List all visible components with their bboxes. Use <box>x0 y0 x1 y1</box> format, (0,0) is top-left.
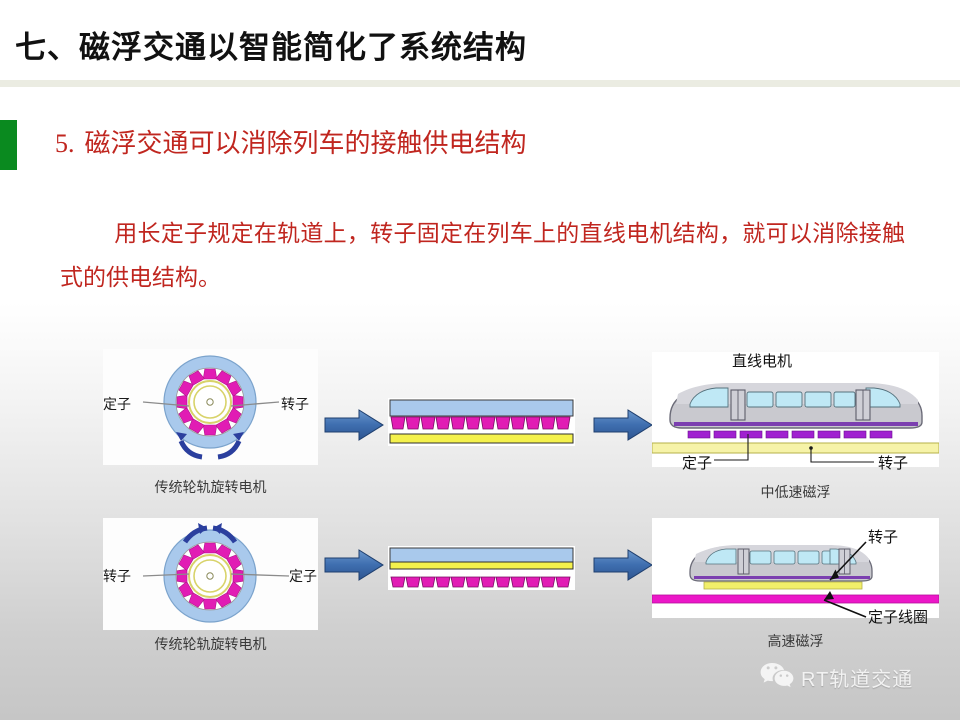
subhead-number: 5. <box>55 129 75 158</box>
arrow-right-row2-b <box>592 548 654 587</box>
paragraph-text: 用长定子规定在轨道上，转子固定在列车上的直线电机结构，就可以消除接触式的供电结构… <box>60 221 905 290</box>
train-label-top-row1: 直线电机 <box>732 350 792 371</box>
arrow-right-row2-a <box>323 548 385 587</box>
linear-motor-svg-row1 <box>388 398 575 446</box>
page-title: 七、磁浮交通以智能简化了系统结构 <box>15 22 527 67</box>
train-label-right-row1: 转子 <box>878 452 908 473</box>
wechat-icon <box>760 662 794 693</box>
train-caption-row1: 中低速磁浮 <box>652 482 939 502</box>
rotary-label-left-row2: 转子 <box>103 566 131 586</box>
arrow-right-row1-b <box>592 408 654 447</box>
subhead: 5.磁浮交通可以消除列车的接触供电结构 <box>55 123 527 160</box>
train-label-left-row1: 定子 <box>682 452 712 473</box>
green-accent-bar <box>0 120 17 170</box>
rotary-caption-row1: 传统轮轨旋转电机 <box>103 477 318 497</box>
train-caption-row2: 高速磁浮 <box>652 631 939 651</box>
rotary-label-right-row2: 定子 <box>289 566 317 586</box>
subhead-text: 磁浮交通可以消除列车的接触供电结构 <box>85 129 527 158</box>
rotary-motor-figure-row2: 转子 定子 <box>103 518 318 630</box>
linear-motor-svg-row2 <box>388 546 575 590</box>
train-label-top-row2: 转子 <box>868 526 898 547</box>
train-svg-row1 <box>652 352 939 467</box>
title-divider <box>0 80 960 87</box>
watermark-text: RT轨道交通 <box>801 663 913 692</box>
rotary-motor-figure-row1: 定子 转子 <box>103 349 318 465</box>
linear-motor-figure-row1 <box>388 398 575 446</box>
slide-root: 七、磁浮交通以智能简化了系统结构 5.磁浮交通可以消除列车的接触供电结构 用长定… <box>0 0 960 720</box>
arrow-right-row1-a <box>323 408 385 447</box>
linear-motor-figure-row2 <box>388 546 575 590</box>
train-figure-row1: 直线电机 定子 转子 <box>652 352 939 467</box>
footer-watermark: RT轨道交通 <box>760 662 913 693</box>
train-figure-row2: 转子 定子线圈 <box>652 518 939 618</box>
rotary-label-left-row1: 定子 <box>103 394 131 414</box>
body-paragraph: 用长定子规定在轨道上，转子固定在列车上的直线电机结构，就可以消除接触式的供电结构… <box>60 212 905 300</box>
rotary-caption-row2: 传统轮轨旋转电机 <box>103 634 318 654</box>
rotary-motor-svg-row2 <box>103 518 318 630</box>
train-label-bottom-row2: 定子线圈 <box>868 606 928 627</box>
rotary-label-right-row1: 转子 <box>281 394 309 414</box>
